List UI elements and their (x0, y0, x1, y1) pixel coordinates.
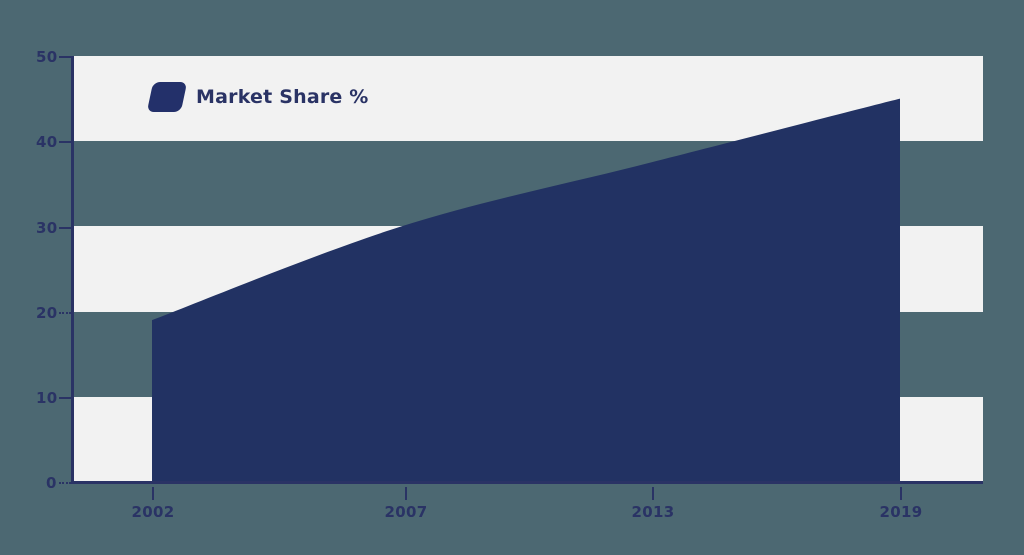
grid-band-30-40 (72, 141, 983, 226)
x-axis-line (71, 481, 983, 484)
y-tick-20 (59, 312, 71, 314)
x-tick-2013 (652, 487, 654, 500)
grid-band-0-10 (72, 397, 983, 482)
x-tick-label-2002: 2002 (132, 503, 175, 521)
x-tick-2002 (152, 487, 154, 500)
y-tick-30 (59, 227, 71, 229)
x-tick-2019 (900, 487, 902, 500)
y-tick-50 (59, 56, 71, 58)
x-tick-label-2013: 2013 (632, 503, 675, 521)
chart-root: 50 40 30 20 10 0 2002 2007 2013 2019 Mar… (0, 0, 1024, 555)
grid-band-10-20 (72, 312, 983, 397)
legend-label-market-share: Market Share % (196, 86, 369, 108)
y-tick-10 (59, 397, 71, 399)
grid-band-20-30 (72, 226, 983, 311)
y-tick-40 (59, 141, 71, 143)
legend-swatch-icon (147, 82, 187, 112)
x-tick-2007 (405, 487, 407, 500)
x-tick-label-2019: 2019 (880, 503, 923, 521)
x-tick-label-2007: 2007 (385, 503, 428, 521)
y-axis-line (71, 56, 74, 484)
chart-legend[interactable]: Market Share % (150, 82, 369, 112)
plot-area (72, 56, 983, 482)
y-tick-0 (59, 482, 71, 484)
